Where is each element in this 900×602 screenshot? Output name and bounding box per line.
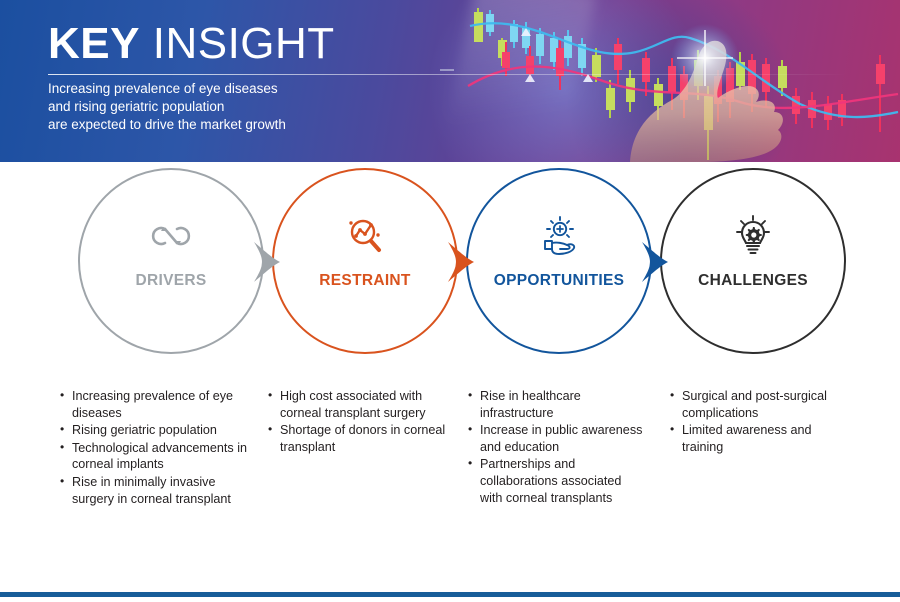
bullet-list-restraint: High cost associated with corneal transp…	[266, 388, 446, 456]
stage-circle-challenges[interactable]: CHALLENGES	[660, 168, 846, 354]
subtitle-line-1: Increasing prevalence of eye diseases	[48, 80, 468, 98]
list-item: Rising geriatric population	[58, 422, 248, 439]
infographic-page: KEY INSIGHT Increasing prevalence of eye…	[0, 0, 900, 602]
list-item: Limited awareness and training	[668, 422, 848, 455]
title-light-word: INSIGHT	[153, 19, 335, 68]
bullet-columns: Increasing prevalence of eye diseases Ri…	[0, 388, 900, 568]
bullet-list-opportunities: Rise in healthcare infrastructure Increa…	[466, 388, 646, 507]
stage-circle-drivers[interactable]: DRIVERS	[78, 168, 264, 354]
list-item: Increasing prevalence of eye diseases	[58, 388, 248, 421]
magnifier-chart-icon	[274, 212, 456, 260]
header-subtitle: Increasing prevalence of eye diseases an…	[48, 80, 468, 134]
header-banner: KEY INSIGHT Increasing prevalence of eye…	[0, 0, 900, 162]
stage-label-opportunities: OPPORTUNITIES	[468, 272, 650, 290]
title-divider	[48, 74, 848, 75]
bullet-list-drivers: Increasing prevalence of eye diseases Ri…	[58, 388, 248, 508]
arrow-drivers-to-restraint	[250, 242, 292, 282]
subtitle-line-2: and rising geriatric population	[48, 98, 468, 116]
process-flow: DRIVERS RESTR	[0, 162, 900, 392]
stage-label-challenges: CHALLENGES	[662, 272, 844, 290]
list-item: Rise in healthcare infrastructure	[466, 388, 646, 421]
stage-circle-restraint[interactable]: RESTRAINT	[272, 168, 458, 354]
page-title: KEY INSIGHT	[48, 18, 335, 70]
stage-label-restraint: RESTRAINT	[274, 272, 456, 290]
list-item: High cost associated with corneal transp…	[266, 388, 446, 421]
hand-holding-health-icon	[468, 212, 650, 260]
list-item: Rise in minimally invasive surgery in co…	[58, 474, 248, 507]
stage-label-drivers: DRIVERS	[80, 272, 262, 290]
arrow-opportunities-to-challenges	[638, 242, 680, 282]
list-item: Partnerships and collaborations associat…	[466, 456, 646, 506]
list-item: Increase in public awareness and educati…	[466, 422, 646, 455]
footer-divider	[0, 592, 900, 597]
lightbulb-gear-icon	[662, 212, 844, 260]
bullet-list-challenges: Surgical and post-surgical complications…	[668, 388, 848, 456]
list-item: Shortage of donors in corneal transplant	[266, 422, 446, 455]
growth-loop-icon	[80, 212, 262, 260]
subtitle-line-3: are expected to drive the market growth	[48, 116, 468, 134]
stage-circle-opportunities[interactable]: OPPORTUNITIES	[466, 168, 652, 354]
title-bold-word: KEY	[48, 19, 140, 68]
candlestick-chart-image	[440, 0, 900, 162]
list-item: Surgical and post-surgical complications	[668, 388, 848, 421]
arrow-restraint-to-opportunities	[444, 242, 486, 282]
list-item: Technological advancements in corneal im…	[58, 440, 248, 473]
